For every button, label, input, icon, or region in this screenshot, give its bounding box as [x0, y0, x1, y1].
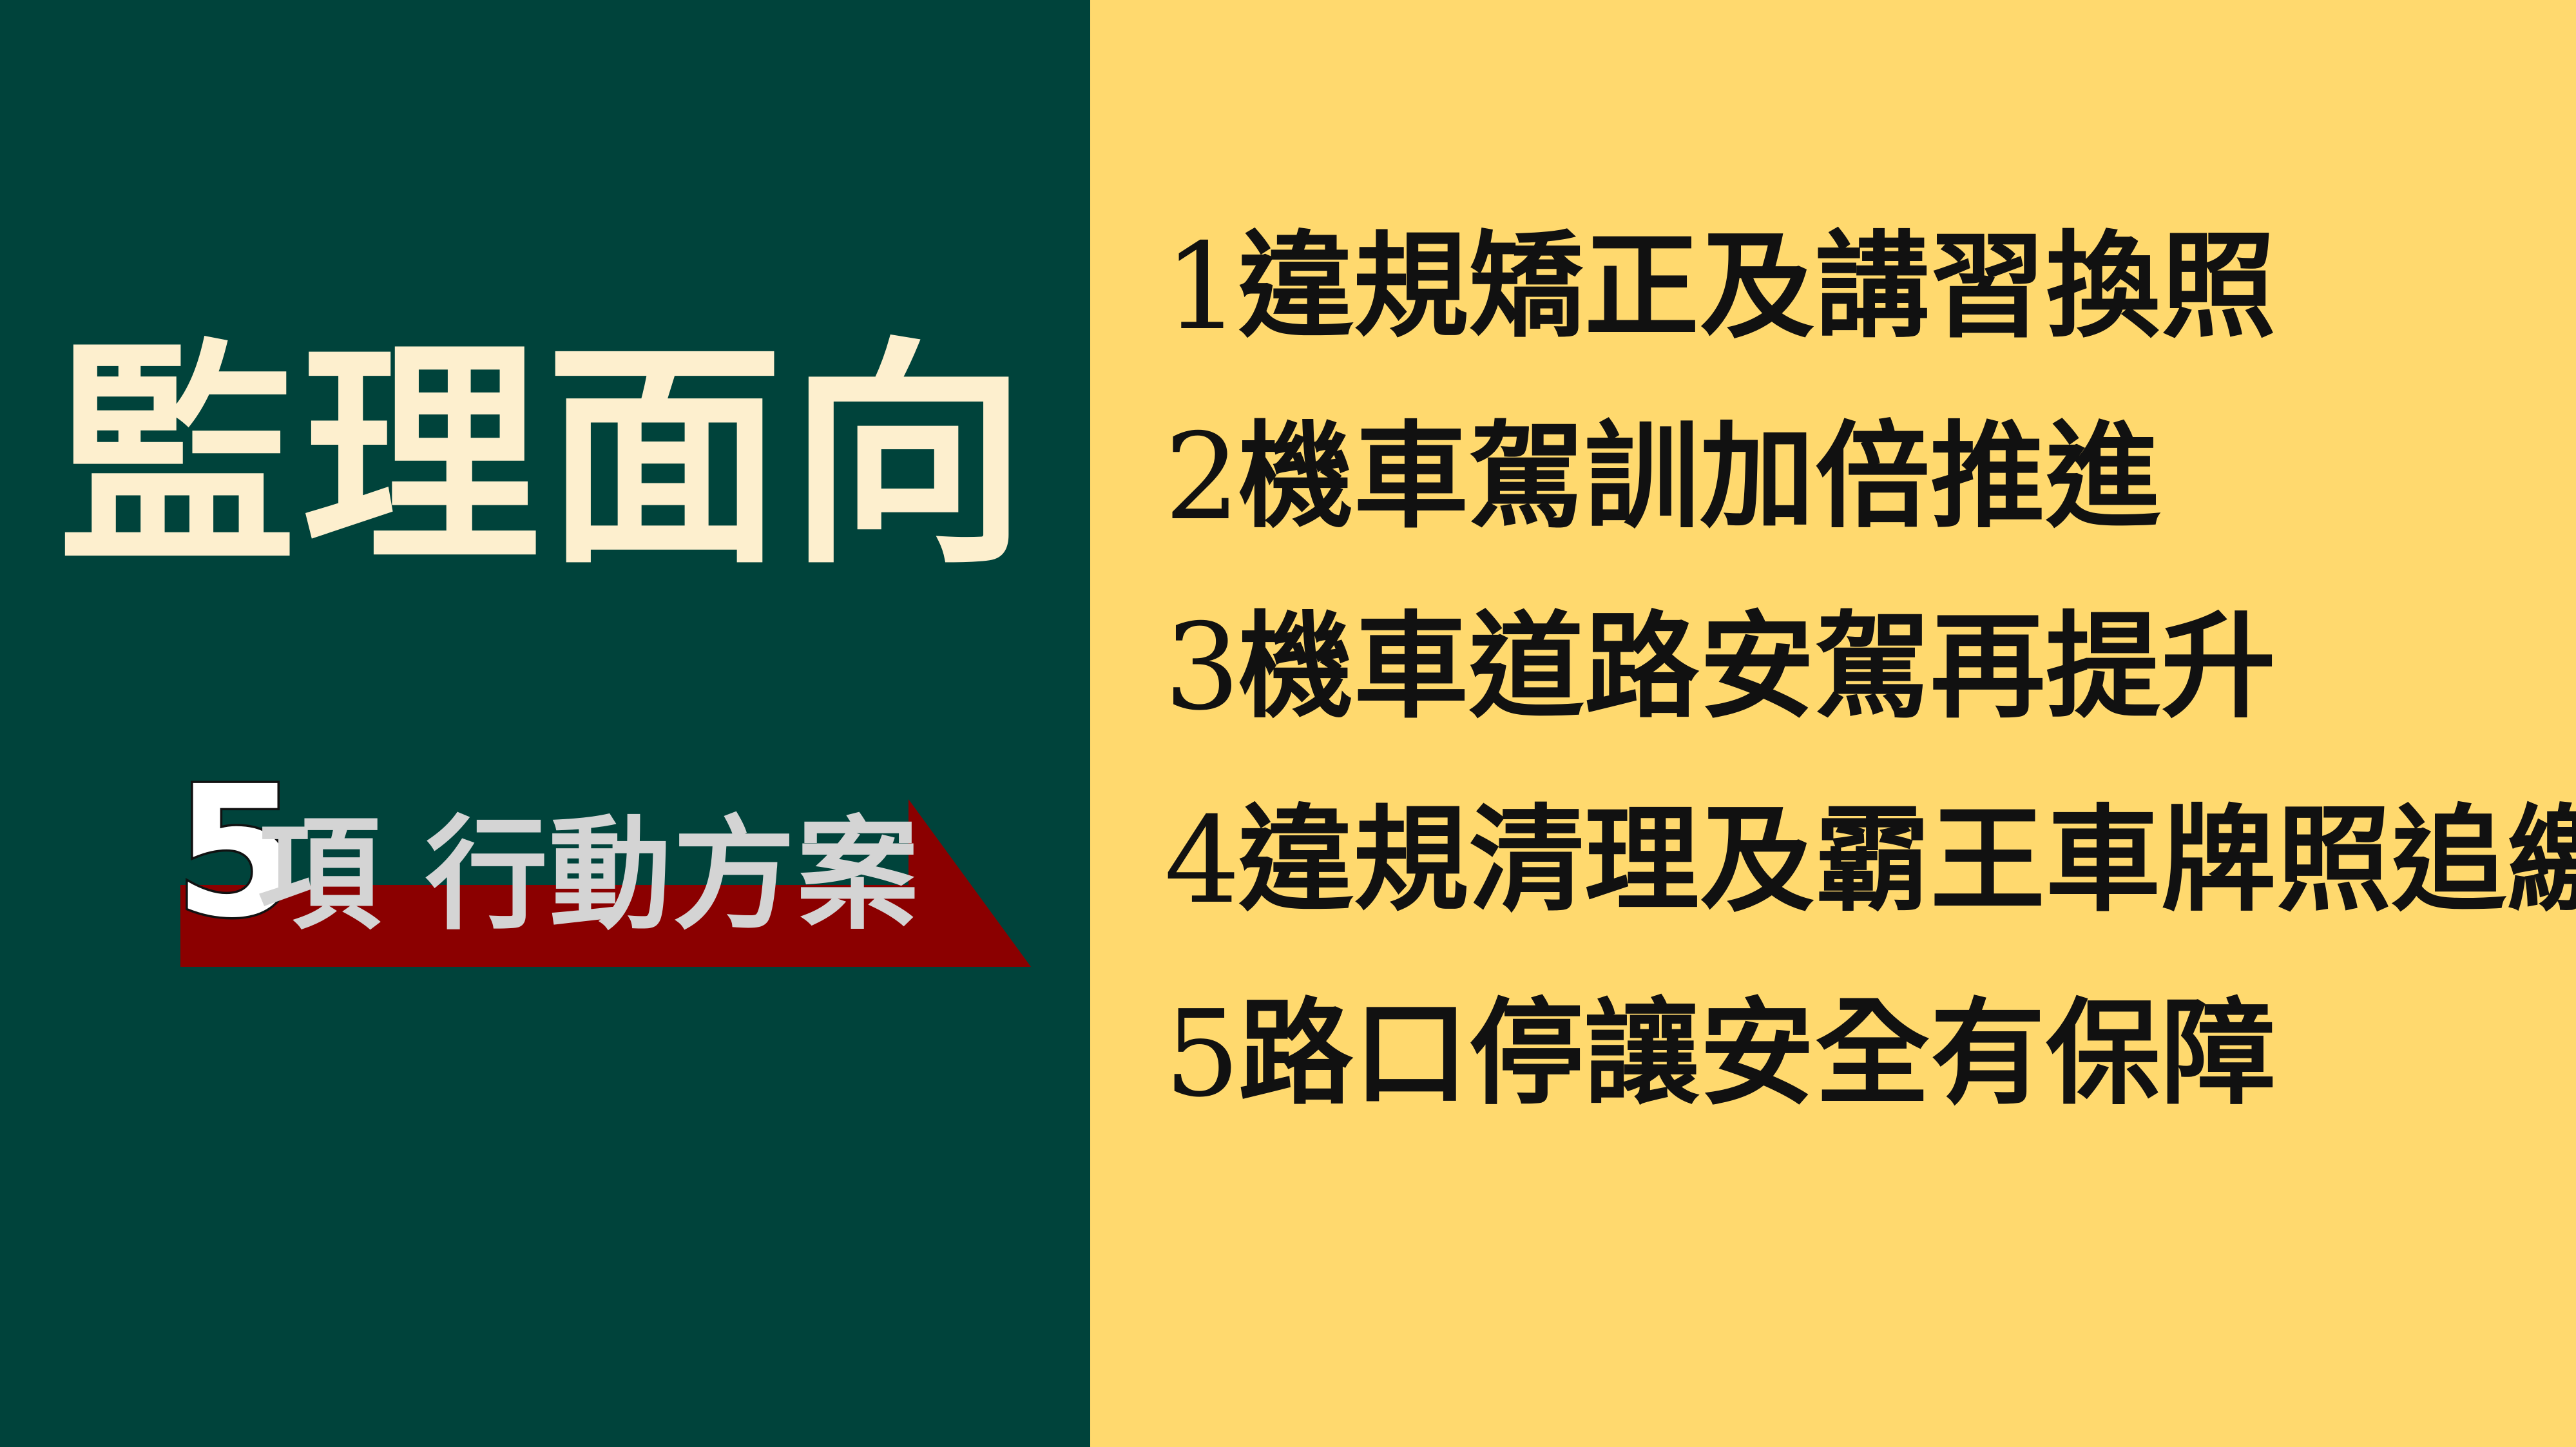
- list-item[interactable]: 2 機車駕訓加倍推進: [1164, 403, 2575, 551]
- slide-canvas: 監理面向 5 項 行動方案 1 違規矯正及講習換照 2 機車駕訓加倍推進 3 機…: [0, 0, 2576, 1447]
- list-item[interactable]: 1 違規矯正及講習換照: [1164, 213, 2575, 361]
- banner-label: 項 行動方案: [258, 814, 920, 937]
- action-plan-list: 1 違規矯正及講習換照 2 機車駕訓加倍推進 3 機車道路安駕再提升 4 違規清…: [1090, 0, 2576, 1447]
- banner-text-group: 5 項 行動方案: [174, 777, 1076, 970]
- list-item[interactable]: 5 路口停讓安全有保障: [1164, 980, 2575, 1128]
- list-item-label: 違規矯正及講習換照: [1238, 229, 2276, 344]
- page-title: 監理面向: [0, 338, 1090, 577]
- list-item-number: 4: [1164, 801, 1238, 920]
- list-item-label: 機車駕訓加倍推進: [1238, 420, 2161, 534]
- list-item-label: 違規清理及霸王車牌照追繳: [1238, 803, 2576, 918]
- list-item-number: 5: [1164, 995, 1238, 1114]
- list-item-label: 路口停讓安全有保障: [1238, 996, 2276, 1111]
- left-green-panel: [0, 0, 1090, 1447]
- list-item-number: 1: [1164, 228, 1238, 347]
- list-item-number: 3: [1164, 608, 1238, 727]
- list-item[interactable]: 3 機車道路安駕再提升: [1164, 593, 2575, 741]
- list-item[interactable]: 4 違規清理及霸王車牌照追繳: [1164, 786, 2575, 935]
- list-item-label: 機車道路安駕再提升: [1238, 610, 2276, 724]
- list-item-number: 2: [1164, 418, 1238, 537]
